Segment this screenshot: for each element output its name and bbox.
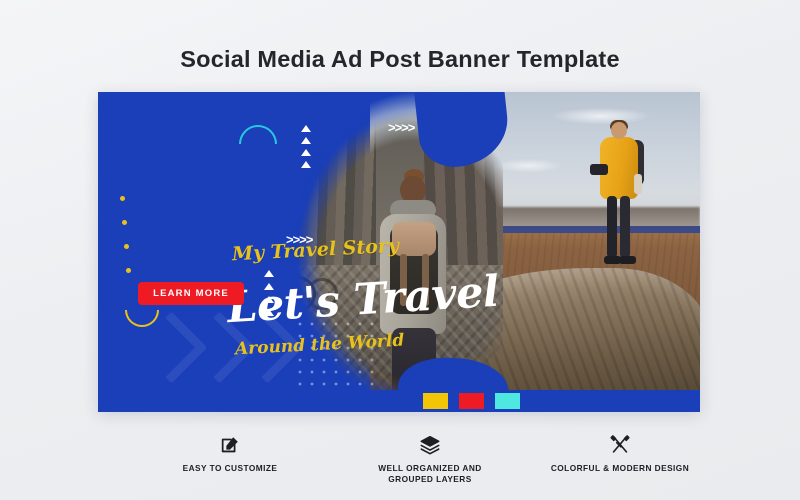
banner-preview[interactable]: >>>> >>>> My Travel Story Let's Travel A… xyxy=(98,92,700,412)
feature-list: EASY TO CUSTOMIZE WELL ORGANIZED AND GRO… xyxy=(98,432,700,488)
hiker-figure xyxy=(592,122,648,274)
layers-icon xyxy=(330,432,530,458)
feature-label: WELL ORGANIZED AND GROUPED LAYERS xyxy=(330,463,530,485)
feature-label: EASY TO CUSTOMIZE xyxy=(130,463,330,474)
feature-item-design: COLORFUL & MODERN DESIGN xyxy=(520,432,720,474)
swatch-red xyxy=(459,393,484,409)
swatch-cyan xyxy=(495,393,520,409)
swatch-strip xyxy=(98,390,700,412)
feature-item-layers: WELL ORGANIZED AND GROUPED LAYERS xyxy=(330,432,530,485)
feature-item-customize: EASY TO CUSTOMIZE xyxy=(130,432,330,474)
swatch-yellow xyxy=(423,393,448,409)
feature-label: COLORFUL & MODERN DESIGN xyxy=(520,463,720,474)
edit-square-pencil-icon xyxy=(130,432,330,458)
learn-more-button[interactable]: LEARN MORE xyxy=(138,282,244,305)
page-title: Social Media Ad Post Banner Template xyxy=(0,46,800,73)
pencil-ruler-cross-icon xyxy=(520,432,720,458)
page-root: Social Media Ad Post Banner Template xyxy=(0,0,800,500)
